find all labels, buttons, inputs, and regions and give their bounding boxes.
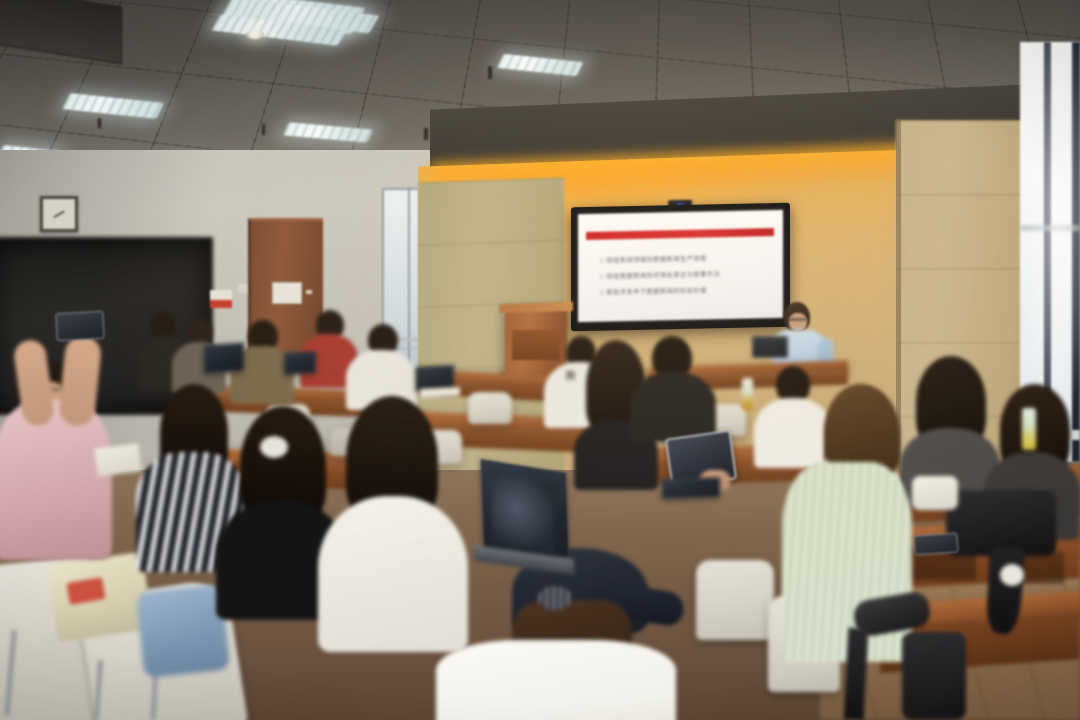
bag-charm — [1000, 564, 1024, 586]
lecture-hall-photo: □ 财经新闻领域的数据新闻生产流程□ 财经数据新闻的可视化表达与叙事方法□ 新技… — [0, 0, 1080, 720]
slide-bullet-text: □ 新技术条件下数据新闻的社会价值 — [600, 287, 707, 297]
hair-scrunchie — [260, 436, 288, 458]
attendee-body — [630, 372, 716, 442]
smartphone[interactable] — [913, 532, 958, 555]
presenter-face — [789, 313, 807, 331]
lectern-panel — [512, 330, 560, 360]
presenter-monitor — [752, 336, 788, 358]
fire-notice-sign — [210, 290, 232, 308]
attendee-body — [436, 640, 676, 720]
wall-clock-icon — [40, 196, 78, 232]
beaded-hair-tie — [538, 586, 572, 610]
ceiling-sensor — [424, 128, 428, 140]
shirt-print: R — [566, 368, 582, 384]
office-chair-back — [902, 632, 966, 720]
light-switch-icon[interactable] — [238, 284, 247, 293]
door-sign — [272, 282, 302, 304]
chair — [468, 392, 512, 424]
laptop-screen[interactable] — [284, 351, 316, 375]
window-mullion — [408, 188, 410, 368]
photographer-body — [0, 400, 112, 560]
handbag — [946, 490, 1056, 556]
laptop-screen[interactable] — [204, 343, 244, 374]
presentation-slide: □ 财经新闻领域的数据新闻生产流程□ 财经数据新闻的可视化表达与叙事方法□ 新技… — [578, 210, 783, 322]
door-handle-icon[interactable] — [306, 290, 312, 294]
laptop-screen-content — [492, 472, 554, 554]
attendee-body — [318, 496, 468, 652]
tissue-pack — [912, 476, 958, 510]
slide-bullet-text: □ 财经数据新闻的可视化表达与叙事方法 — [600, 271, 720, 282]
slide-accent-band — [586, 228, 774, 240]
ceiling-sensor — [262, 124, 265, 135]
glasses-icon — [789, 318, 806, 321]
slide-bullet-text: □ 财经新闻领域的数据新闻生产流程 — [600, 255, 707, 265]
notebook — [94, 443, 141, 476]
water-bottle — [1022, 408, 1036, 450]
attendee-body — [754, 398, 832, 468]
ceiling-sensor — [98, 118, 101, 128]
chair — [696, 560, 774, 640]
laptop-base[interactable] — [662, 477, 720, 499]
camera-phone[interactable] — [55, 311, 104, 341]
downlight-icon — [246, 30, 264, 39]
ceiling-sensor — [488, 66, 492, 79]
water-bottle — [742, 378, 753, 410]
